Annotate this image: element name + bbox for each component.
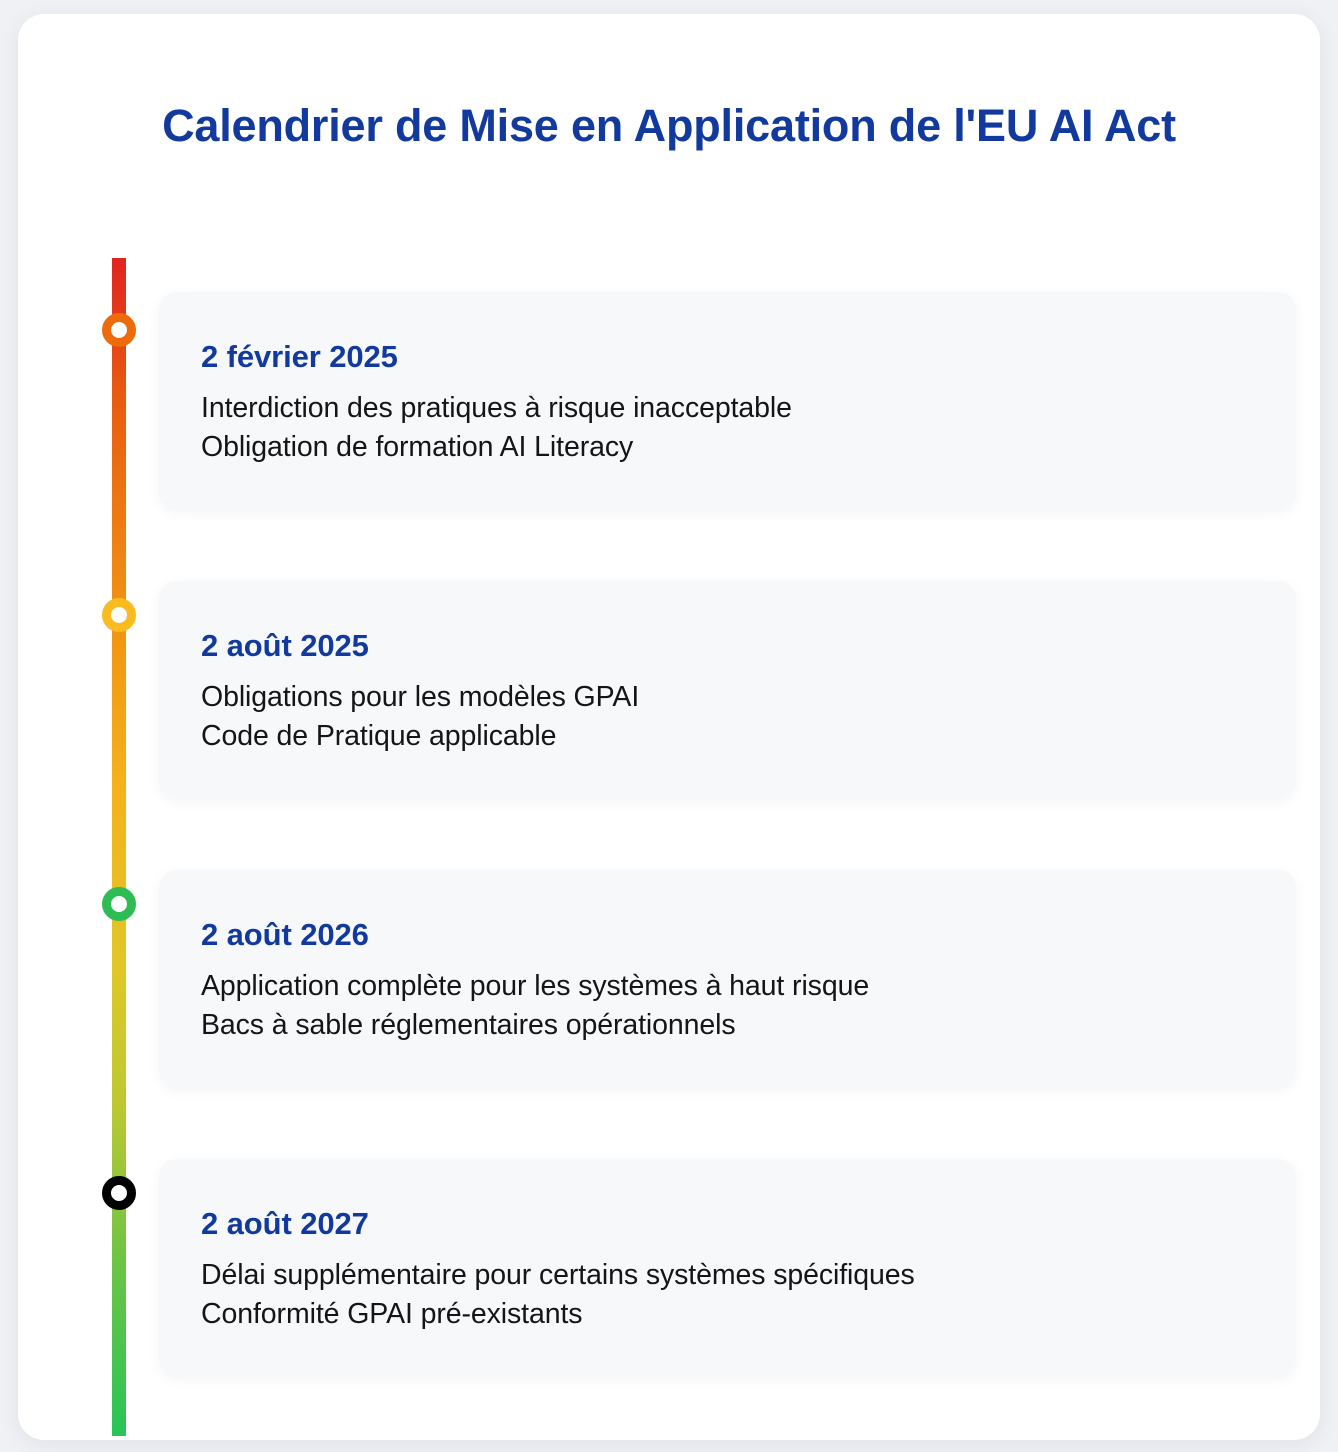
event-date: 2 août 2027 xyxy=(201,1205,1252,1242)
event-detail-line: Interdiction des pratiques à risque inac… xyxy=(201,389,1252,427)
event-detail-line: Obligations pour les modèles GPAI xyxy=(201,678,1252,716)
event-detail-line: Conformité GPAI pré-existants xyxy=(201,1295,1252,1333)
event-detail-line: Obligation de formation AI Literacy xyxy=(201,428,1252,466)
event-detail-line: Application complète pour les systèmes à… xyxy=(201,967,1252,1005)
timeline-event-card[interactable]: 2 août 2027 Délai supplémentaire pour ce… xyxy=(159,1159,1296,1377)
event-date: 2 août 2026 xyxy=(201,916,1252,953)
timeline-marker-green-icon xyxy=(102,887,136,921)
event-date: 2 février 2025 xyxy=(201,338,1252,375)
event-detail-line: Délai supplémentaire pour certains systè… xyxy=(201,1256,1252,1294)
timeline-event-card[interactable]: 2 août 2026 Application complète pour le… xyxy=(159,870,1296,1088)
timeline-event-card[interactable]: 2 février 2025 Interdiction des pratique… xyxy=(159,292,1296,510)
timeline-event-card[interactable]: 2 août 2025 Obligations pour les modèles… xyxy=(159,581,1296,799)
timeline-event-list: 2 février 2025 Interdiction des pratique… xyxy=(18,14,1320,1440)
event-detail-line: Bacs à sable réglementaires opérationnel… xyxy=(201,1006,1252,1044)
infographic-container: Calendrier de Mise en Application de l'E… xyxy=(18,14,1320,1440)
timeline-marker-amber-icon xyxy=(102,598,136,632)
timeline-marker-black-icon xyxy=(102,1176,136,1210)
timeline-marker-orange-icon xyxy=(102,313,136,347)
event-detail-line: Code de Pratique applicable xyxy=(201,717,1252,755)
event-date: 2 août 2025 xyxy=(201,627,1252,664)
